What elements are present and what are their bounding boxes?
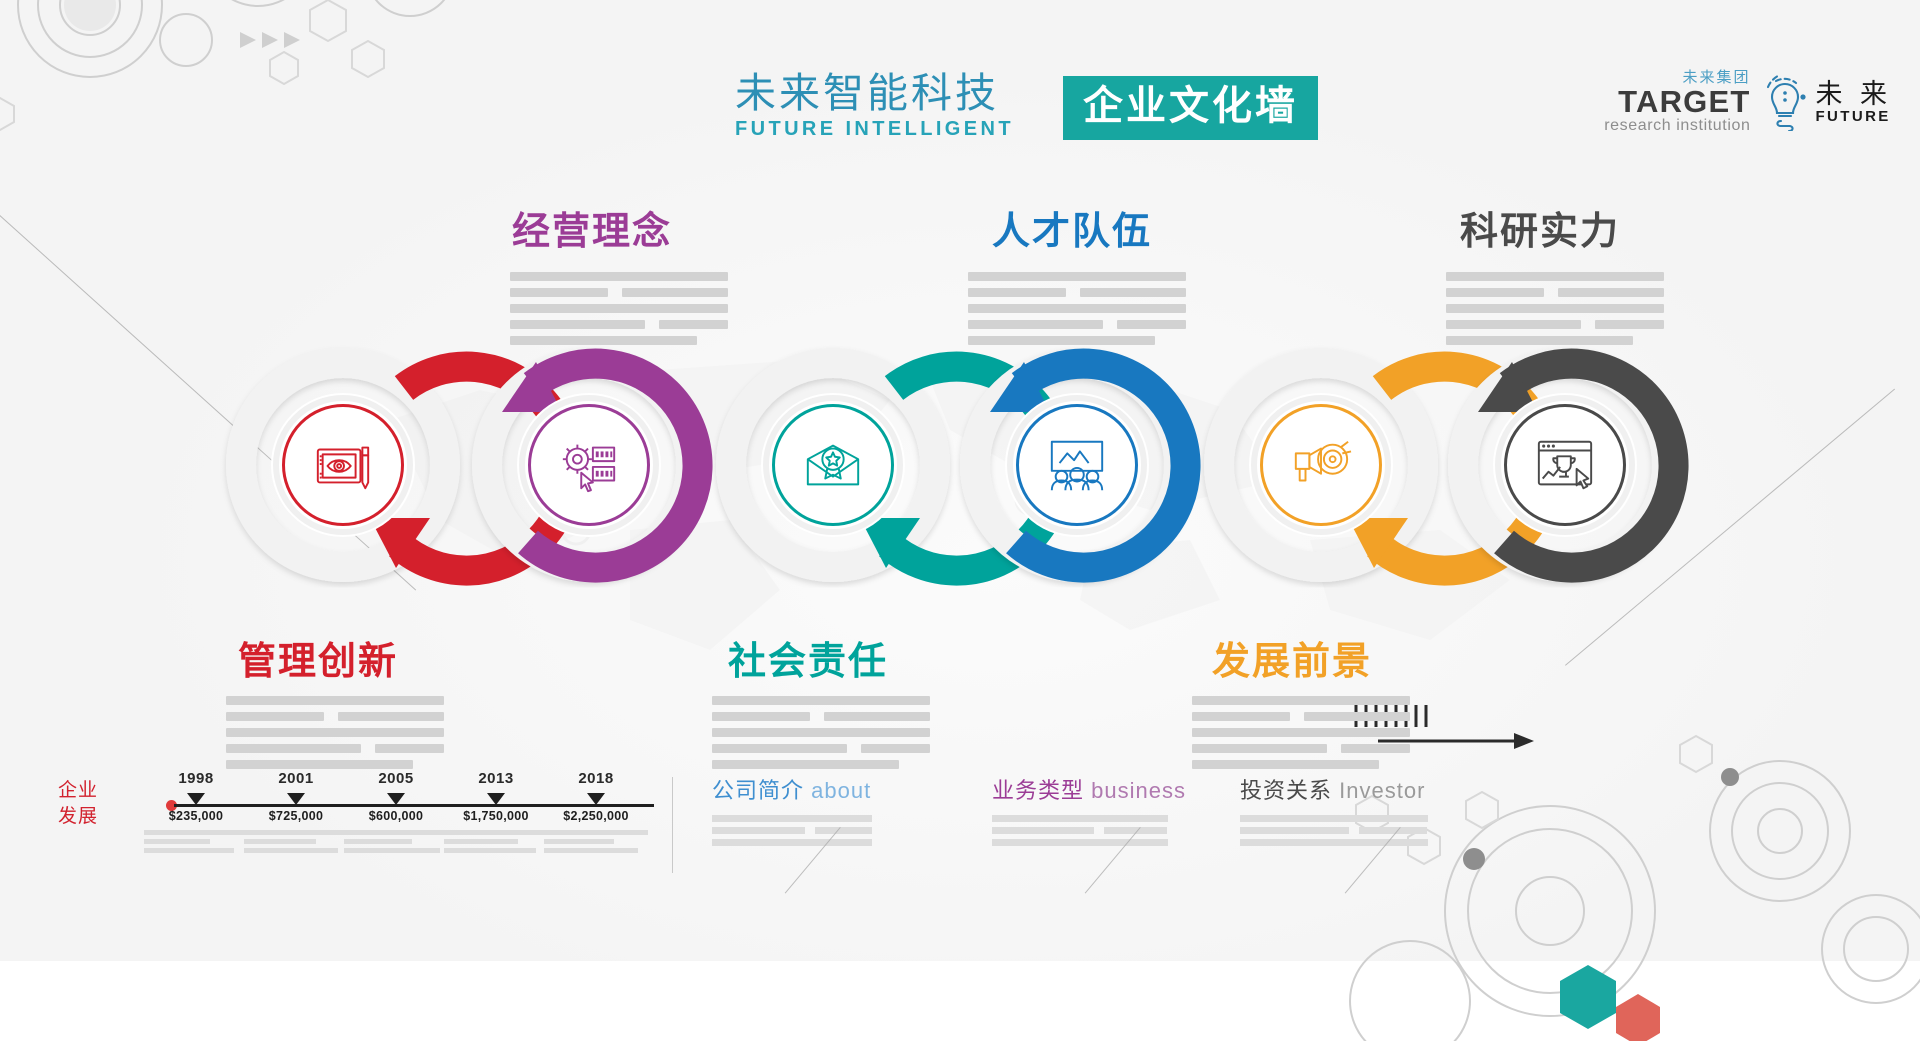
logo-mark-en: FUTURE — [1815, 109, 1892, 124]
target-megaphone-icon — [1290, 434, 1352, 496]
team-presentation-icon — [1046, 434, 1108, 496]
ring-fazhan-qianjing[interactable] — [1196, 340, 1446, 590]
nav-link-investor-en: Investor — [1339, 778, 1425, 803]
page-title-box: 企业文化墙 — [1063, 76, 1318, 140]
company-logo: 未来集团 TARGET research institution 未 — [1604, 70, 1892, 134]
brand-name-cn: 未来智能科技 — [735, 72, 1014, 115]
culture-wall-poster: 未来智能科技 FUTURE INTELLIGENT 企业文化墙 未来集团 TAR… — [0, 0, 1920, 961]
ring-icon-keyan-shili — [1504, 404, 1626, 526]
nav-link-business[interactable]: 业务类型 business — [992, 773, 1186, 851]
page-title: 企业文化墙 — [1083, 83, 1298, 129]
tablet-design-eye-icon — [312, 434, 374, 496]
award-badge-envelope-icon — [802, 434, 864, 496]
section-text-shehui-zeren — [712, 696, 930, 776]
ring-jingying-linian[interactable] — [464, 340, 714, 590]
process-ring-row — [0, 340, 1920, 590]
timeline-label: 企业 发展 — [58, 778, 98, 829]
gear-cursor-data-icon — [558, 434, 620, 496]
section-title-shehui-zeren: 社会责任 — [728, 630, 888, 685]
timeline-label-line1: 企业 — [58, 778, 98, 804]
nav-link-business-cn: 业务类型 — [992, 778, 1084, 803]
lightbulb-idea-icon — [1762, 73, 1808, 131]
section-title-keyan-shili: 科研实力 — [1460, 200, 1620, 255]
ring-icon-shehui-zeren — [772, 404, 894, 526]
timeline-marker-icon — [587, 793, 605, 805]
section-title-fazhan-qianjing: 发展前景 — [1212, 630, 1372, 685]
section-divider — [672, 777, 673, 873]
ring-keyan-shili[interactable] — [1440, 340, 1690, 590]
brand-block: 未来智能科技 FUTURE INTELLIGENT — [735, 72, 1014, 141]
nav-link-about-en: about — [811, 778, 871, 803]
timeline-marker-icon — [487, 793, 505, 805]
section-title-jingying-linian: 经营理念 — [512, 200, 672, 255]
timeline-marker-icon — [287, 793, 305, 805]
timeline-label-line2: 发展 — [58, 804, 98, 830]
nav-link-about-label: 公司简介 about — [712, 773, 872, 805]
logo-sub-en: research institution — [1604, 118, 1750, 135]
nav-link-about-cn: 公司简介 — [712, 778, 804, 803]
logo-mark-cn: 未 来 — [1815, 81, 1892, 108]
timeline-marker-icon — [387, 793, 405, 805]
nav-link-investor-label: 投资关系 Investor — [1240, 773, 1428, 805]
nav-link-investor[interactable]: 投资关系 Investor — [1240, 773, 1428, 851]
section-text-fazhan-qianjing — [1192, 696, 1410, 776]
ring-icon-fazhan-qianjing — [1260, 404, 1382, 526]
nav-link-investor-lines — [1240, 815, 1428, 846]
section-title-guanli-chuangxin: 管理创新 — [238, 630, 398, 685]
trophy-chart-click-icon — [1534, 434, 1596, 496]
nav-link-investor-cn: 投资关系 — [1240, 778, 1332, 803]
nav-link-about-lines — [712, 815, 872, 846]
logo-name-en: TARGET — [1604, 86, 1750, 118]
ring-icon-jingying-linian — [528, 404, 650, 526]
brand-name-en: FUTURE INTELLIGENT — [735, 118, 1014, 141]
ring-icon-guanli-chuangxin — [282, 404, 404, 526]
ring-guanli-chuangxin[interactable] — [218, 340, 468, 590]
timeline-item[interactable]: 2018 $2,250,000 — [536, 770, 656, 857]
timeline-value: $2,250,000 — [536, 809, 656, 823]
timeline-marker-icon — [187, 793, 205, 805]
section-title-rencai-duiwu: 人才队伍 — [992, 200, 1152, 255]
company-development-timeline: 企业 发展 1998 $235,000 2001 $725,000 2005 $… — [58, 756, 658, 866]
ring-icon-rencai-duiwu — [1016, 404, 1138, 526]
nav-link-business-label: 业务类型 business — [992, 773, 1186, 805]
nav-link-about[interactable]: 公司简介 about — [712, 773, 872, 851]
timeline-year: 2018 — [536, 770, 656, 787]
ring-shehui-zeren[interactable] — [708, 340, 958, 590]
poster-header: 未来智能科技 FUTURE INTELLIGENT 企业文化墙 未来集团 TAR… — [0, 34, 1920, 118]
nav-link-business-lines — [992, 815, 1168, 846]
ring-rencai-duiwu[interactable] — [952, 340, 1202, 590]
nav-link-business-en: business — [1091, 778, 1186, 803]
